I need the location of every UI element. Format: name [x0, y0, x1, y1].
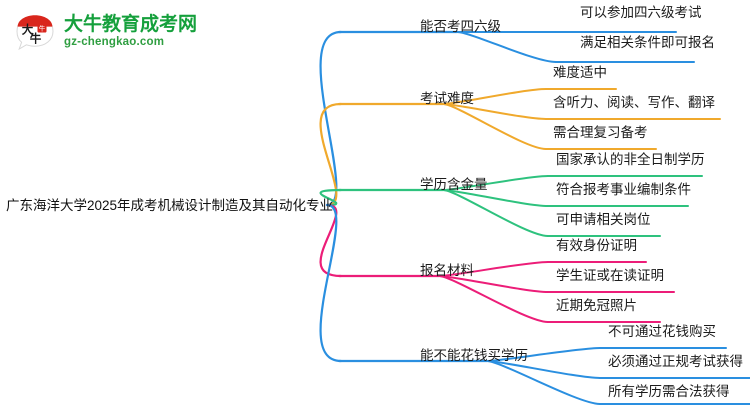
leaf-label-1-1[interactable]: 可以参加四六级考试: [580, 6, 702, 20]
leaf-label-2-1[interactable]: 难度适中: [553, 66, 607, 80]
leaf-label-2-3[interactable]: 需合理复习备考: [553, 126, 648, 140]
leaf-label-3-2[interactable]: 符合报考事业编制条件: [556, 183, 691, 197]
leaf-label-4-1[interactable]: 有效身份证明: [556, 239, 637, 253]
branch-label-3[interactable]: 学历含金量: [420, 178, 488, 192]
leaf-label-5-2[interactable]: 必须通过正规考试获得: [608, 355, 743, 369]
branch-label-4[interactable]: 报名材料: [420, 264, 474, 278]
leaf-label-2-2[interactable]: 含听力、阅读、写作、翻译: [553, 96, 715, 110]
branch-label-5[interactable]: 能不能花钱买学历: [420, 349, 528, 363]
branch-label-1[interactable]: 能否考四六级: [420, 20, 501, 34]
branch-label-2[interactable]: 考试难度: [420, 92, 474, 106]
mindmap-page: 牛 大 牛 大牛教育成考网 gz-chengkao.com 广东海洋大学2025…: [0, 0, 750, 410]
leaf-label-1-2[interactable]: 满足相关条件即可报名: [580, 36, 715, 50]
leaf-label-5-1[interactable]: 不可通过花钱购买: [608, 325, 716, 339]
leaf-label-3-1[interactable]: 国家承认的非全日制学历: [556, 153, 705, 167]
leaf-label-3-3[interactable]: 可申请相关岗位: [556, 213, 651, 227]
leaf-label-4-3[interactable]: 近期免冠照片: [556, 299, 637, 313]
leaf-label-5-3[interactable]: 所有学历需合法获得: [608, 385, 730, 399]
leaf-label-4-2[interactable]: 学生证或在读证明: [556, 269, 664, 283]
root-node-label[interactable]: 广东海洋大学2025年成考机械设计制造及其自动化专业: [6, 199, 333, 213]
